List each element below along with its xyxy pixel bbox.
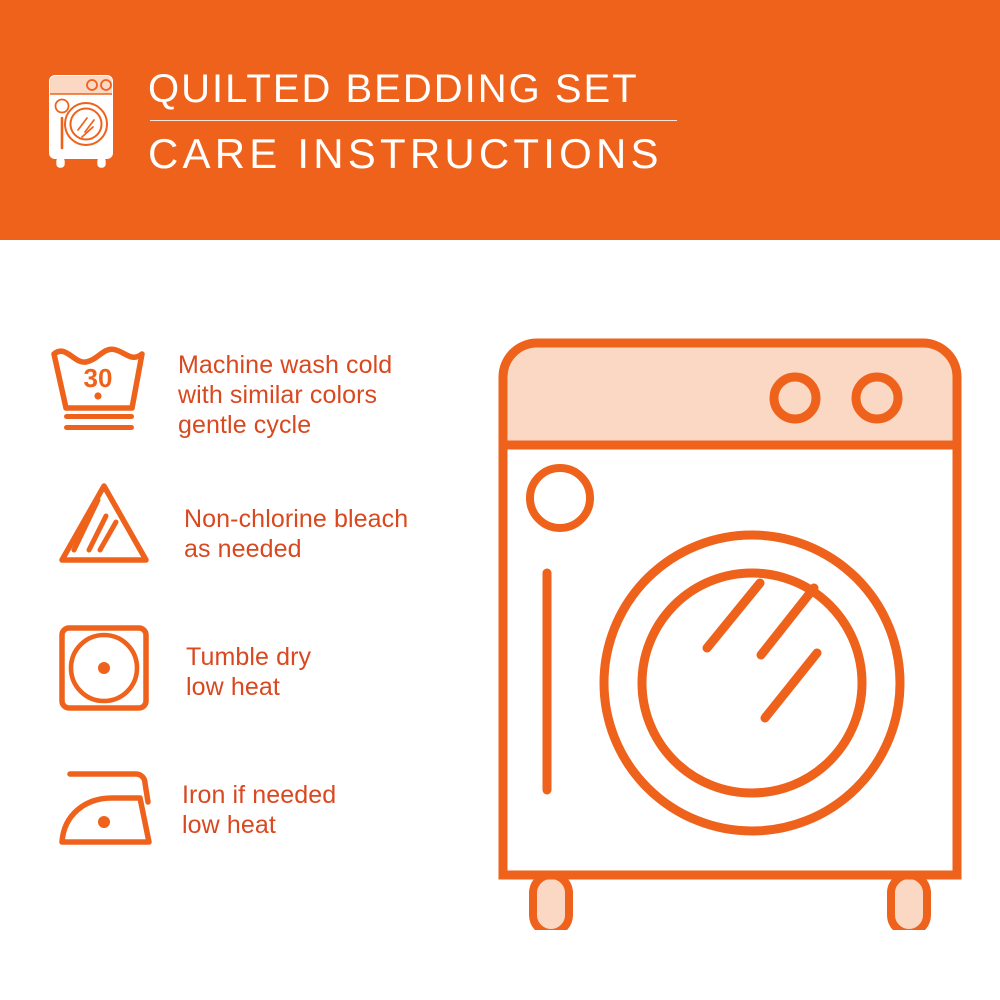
wash-temperature-label: 30 [84, 363, 113, 393]
control-panel-fill [503, 343, 957, 445]
detergent-port-ring [530, 468, 590, 528]
care-item-bleach-text: Non-chlorine bleach as needed [184, 470, 484, 564]
care-text-line: low heat [186, 672, 484, 702]
header-band: QUILTED BEDDING SET CARE INSTRUCTIONS [0, 0, 1000, 240]
page-title: QUILTED BEDDING SET [148, 66, 677, 112]
care-text-line: gentle cycle [178, 410, 484, 440]
header-content: QUILTED BEDDING SET CARE INSTRUCTIONS [44, 66, 677, 178]
care-item-machine-wash: 30 Machine wash cold with similar colors… [44, 330, 484, 470]
iron-low-heat-icon [44, 750, 182, 854]
header-titles: QUILTED BEDDING SET CARE INSTRUCTIONS [148, 66, 677, 178]
care-text-line: Iron if needed [182, 780, 484, 810]
drum-streak [707, 583, 760, 648]
title-divider [150, 120, 677, 121]
machine-leg-left [533, 875, 569, 930]
care-instructions-page: QUILTED BEDDING SET CARE INSTRUCTIONS 30 [0, 0, 1000, 1000]
care-text-line: with similar colors [178, 380, 484, 410]
care-item-iron-text: Iron if needed low heat [182, 750, 484, 840]
care-item-iron: Iron if needed low heat [44, 750, 484, 890]
drum-streak [765, 653, 817, 718]
washing-machine-icon [44, 68, 120, 170]
care-item-tumble-dry: Tumble dry low heat [44, 610, 484, 750]
drum-streak [761, 588, 814, 655]
non-chlorine-bleach-triangle-icon [44, 470, 184, 570]
care-text-line: as needed [184, 534, 484, 564]
washing-machine-illustration [495, 335, 965, 930]
drum-outer-ring [604, 535, 900, 831]
care-item-tumble-dry-text: Tumble dry low heat [186, 610, 484, 702]
care-item-machine-wash-text: Machine wash cold with similar colors ge… [178, 330, 484, 440]
care-text-line: low heat [182, 810, 484, 840]
care-text-line: Machine wash cold [178, 350, 484, 380]
care-instruction-list: 30 Machine wash cold with similar colors… [44, 330, 484, 890]
page-subtitle: CARE INSTRUCTIONS [148, 130, 677, 178]
care-text-line: Non-chlorine bleach [184, 504, 484, 534]
tumble-dry-low-heat-icon [44, 610, 186, 716]
care-item-bleach: Non-chlorine bleach as needed [44, 470, 484, 610]
drum-inner-ring [642, 573, 862, 793]
machine-wash-30-gentle-icon: 30 [44, 330, 178, 438]
care-text-line: Tumble dry [186, 642, 484, 672]
machine-leg-right [891, 875, 927, 930]
